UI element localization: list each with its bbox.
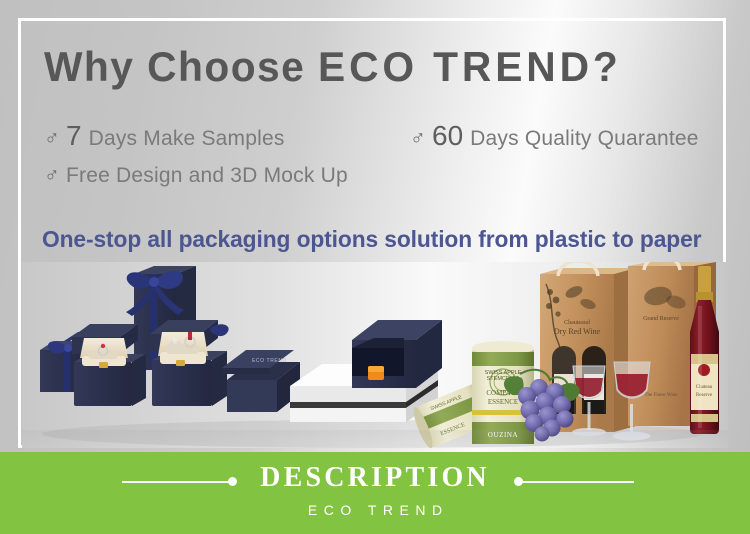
svg-text:Chauteaud: Chauteaud xyxy=(564,320,590,326)
footer-subtitle: ECO TREND xyxy=(0,502,750,518)
promo-banner: Why Choose ECO TREND? ♂ 7 Days Make Samp… xyxy=(0,0,750,534)
feature-label: Days Make Samples xyxy=(89,127,285,151)
rule-line xyxy=(523,481,634,483)
rule-dot xyxy=(514,477,523,486)
navy-jewelry-box-open-right xyxy=(150,320,229,406)
mars-icon: ♂ xyxy=(410,128,432,149)
tagline: One-stop all packaging options solution … xyxy=(42,226,725,253)
feature-number: 7 xyxy=(66,120,82,152)
svg-text:Grand Reserve: Grand Reserve xyxy=(643,316,679,322)
feature-row-2: ♂ Free Design and 3D Mock Up xyxy=(44,164,724,208)
feature-list: ♂ 7 Days Make Samples ♂ 60 Days Quality … xyxy=(44,120,724,208)
page-title: Why Choose ECO TREND? xyxy=(44,38,694,96)
feature-label: Free Design and 3D Mock Up xyxy=(66,164,348,188)
svg-text:ESSENCE: ESSENCE xyxy=(488,398,518,406)
svg-text:ECO TREND: ECO TREND xyxy=(252,358,287,364)
feature-row-1: ♂ 7 Days Make Samples ♂ 60 Days Quality … xyxy=(44,120,724,164)
headline-question-mark: ? xyxy=(593,43,619,90)
svg-text:Dry Red Wine: Dry Red Wine xyxy=(554,327,601,336)
feature-item-guarantee: ♂ 60 Days Quality Quarantee xyxy=(410,120,699,152)
feature-item-design: ♂ Free Design and 3D Mock Up xyxy=(44,164,348,188)
headline-brand: ECO TREND xyxy=(318,43,593,90)
decorative-rule-right xyxy=(514,477,634,486)
svg-text:The Finest Wine: The Finest Wine xyxy=(644,393,678,398)
feature-number: 60 xyxy=(432,120,463,152)
feature-item-samples: ♂ 7 Days Make Samples xyxy=(44,120,285,152)
feature-label: Days Quality Quarantee xyxy=(470,127,699,151)
headline-lead: Why Choose xyxy=(44,43,318,90)
mars-icon: ♂ xyxy=(44,165,66,186)
mars-icon: ♂ xyxy=(44,128,66,149)
product-photo-collage: ECO TREND ECO TREND xyxy=(22,262,728,448)
navy-jewelry-box-open-left xyxy=(72,324,146,406)
description-footer-bar: DESCRIPTION ECO TREND xyxy=(0,452,750,534)
footer-title: DESCRIPTION xyxy=(0,462,750,494)
